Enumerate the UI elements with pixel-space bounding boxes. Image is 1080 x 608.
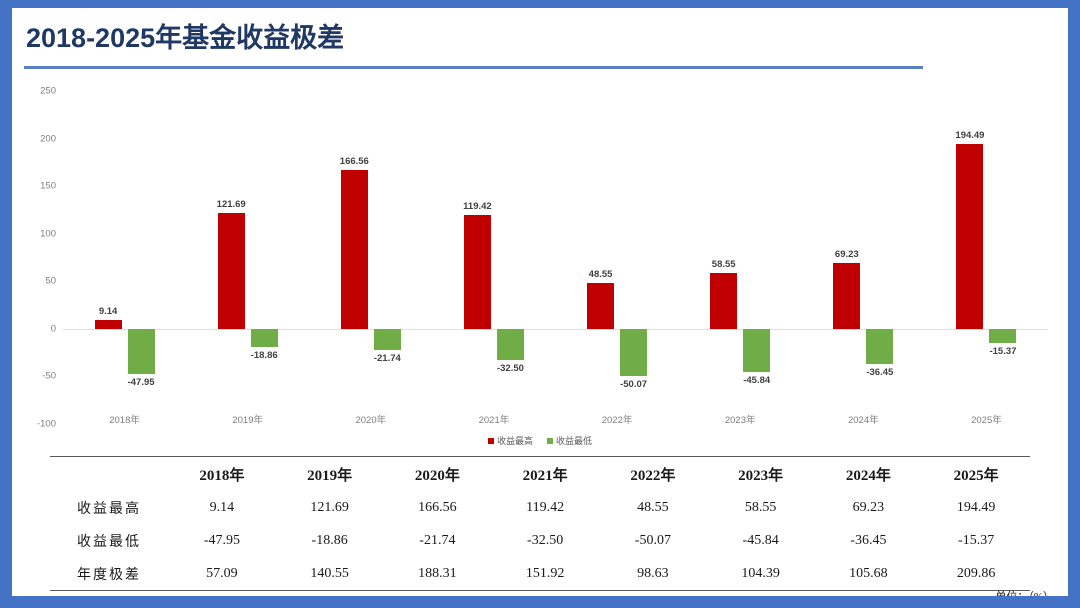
table-corner-cell bbox=[50, 457, 168, 492]
table-column-header: 2022年 bbox=[599, 457, 707, 492]
x-axis-tick: 2018年 bbox=[109, 412, 140, 426]
bar-收益最低-2025年[interactable] bbox=[989, 329, 1016, 344]
table-cell: -18.86 bbox=[276, 524, 384, 557]
bar-value-label: -45.84 bbox=[743, 375, 770, 386]
table-column-header: 2024年 bbox=[815, 457, 923, 492]
bar-收益最高-2022年[interactable] bbox=[587, 283, 614, 329]
bar-收益最低-2018年[interactable] bbox=[128, 329, 155, 375]
table-cell: 98.63 bbox=[599, 557, 707, 591]
table-row-header: 年度极差 bbox=[50, 557, 168, 591]
table-cell: -21.74 bbox=[384, 524, 492, 557]
y-axis-tick: 50 bbox=[12, 276, 56, 287]
x-axis-tick: 2020年 bbox=[355, 412, 386, 426]
table-body: 收益最高9.14121.69166.56119.4248.5558.5569.2… bbox=[50, 491, 1030, 591]
bar-收益最低-2024年[interactable] bbox=[866, 329, 893, 364]
table-column-header: 2021年 bbox=[491, 457, 599, 492]
y-axis-tick: -50 bbox=[12, 371, 56, 382]
x-axis-tick: 2022年 bbox=[602, 412, 633, 426]
chart-legend: 收益最高收益最低 bbox=[12, 434, 1068, 447]
page-title: 2018-2025年基金收益极差 bbox=[26, 16, 344, 55]
bar-chart: 250200150100500-50-100 9.14-47.95121.69-… bbox=[12, 74, 1068, 454]
table-cell: 48.55 bbox=[599, 491, 707, 524]
bar-收益最低-2021年[interactable] bbox=[497, 329, 524, 360]
table-cell: 188.31 bbox=[384, 557, 492, 591]
x-axis-tick: 2021年 bbox=[479, 412, 510, 426]
y-axis-tick: 150 bbox=[12, 181, 56, 192]
title-underline-rule bbox=[24, 66, 923, 69]
bar-value-label: 69.23 bbox=[835, 249, 859, 260]
table-column-header: 2018年 bbox=[168, 457, 276, 492]
bar-value-label: -36.45 bbox=[866, 367, 893, 378]
bar-value-label: 121.69 bbox=[217, 199, 246, 210]
table-cell: 105.68 bbox=[815, 557, 923, 591]
table-header-row: 2018年2019年2020年2021年2022年2023年2024年2025年 bbox=[50, 457, 1030, 492]
bar-value-label: 119.42 bbox=[463, 201, 492, 212]
table-cell: -50.07 bbox=[599, 524, 707, 557]
table-cell: 9.14 bbox=[168, 491, 276, 524]
table-cell: -47.95 bbox=[168, 524, 276, 557]
bar-收益最高-2018年[interactable] bbox=[95, 320, 122, 329]
table-row-header: 收益最高 bbox=[50, 491, 168, 524]
legend-swatch-icon bbox=[547, 438, 553, 444]
bar-value-label: -47.95 bbox=[128, 377, 155, 388]
slide-page: 2018-2025年基金收益极差 250200150100500-50-100 … bbox=[12, 8, 1068, 596]
table-cell: 194.49 bbox=[922, 491, 1030, 524]
bar-value-label: -15.37 bbox=[989, 346, 1016, 357]
data-table-wrapper: 2018年2019年2020年2021年2022年2023年2024年2025年… bbox=[50, 456, 1030, 591]
bar-value-label: 48.55 bbox=[589, 269, 613, 280]
bar-收益最高-2020年[interactable] bbox=[341, 170, 368, 328]
table-column-header: 2023年 bbox=[707, 457, 815, 492]
y-axis-tick: -100 bbox=[12, 419, 56, 430]
table-column-header: 2019年 bbox=[276, 457, 384, 492]
table-cell: 119.42 bbox=[491, 491, 599, 524]
table-cell: 57.09 bbox=[168, 557, 276, 591]
table-row: 年度极差57.09140.55188.31151.9298.63104.3910… bbox=[50, 557, 1030, 591]
bar-value-label: 194.49 bbox=[955, 130, 984, 141]
bar-收益最高-2021年[interactable] bbox=[464, 215, 491, 329]
bar-value-label: -32.50 bbox=[497, 363, 524, 374]
legend-item-收益最高[interactable]: 收益最高 bbox=[488, 434, 533, 447]
data-table: 2018年2019年2020年2021年2022年2023年2024年2025年… bbox=[50, 456, 1030, 591]
y-axis-tick: 200 bbox=[12, 133, 56, 144]
unit-note: 单位：（%） bbox=[995, 588, 1054, 596]
table-column-header: 2025年 bbox=[922, 457, 1030, 492]
table-cell: 58.55 bbox=[707, 491, 815, 524]
table-cell: -45.84 bbox=[707, 524, 815, 557]
table-column-header: 2020年 bbox=[384, 457, 492, 492]
table-cell: 104.39 bbox=[707, 557, 815, 591]
legend-label: 收益最高 bbox=[497, 434, 533, 447]
table-row-header: 收益最低 bbox=[50, 524, 168, 557]
bar-收益最高-2025年[interactable] bbox=[956, 144, 983, 329]
table-cell: 69.23 bbox=[815, 491, 923, 524]
bar-value-label: -18.86 bbox=[251, 350, 278, 361]
x-axis-tick: 2025年 bbox=[971, 412, 1002, 426]
bar-收益最低-2019年[interactable] bbox=[251, 329, 278, 347]
bar-value-label: -50.07 bbox=[620, 379, 647, 390]
bar-收益最低-2020年[interactable] bbox=[374, 329, 401, 350]
bar-value-label: 58.55 bbox=[712, 259, 736, 270]
table-cell: -15.37 bbox=[922, 524, 1030, 557]
legend-label: 收益最低 bbox=[556, 434, 592, 447]
y-axis-tick: 100 bbox=[12, 228, 56, 239]
x-axis-tick: 2023年 bbox=[725, 412, 756, 426]
table-cell: 151.92 bbox=[491, 557, 599, 591]
bar-value-label: -21.74 bbox=[374, 353, 401, 364]
zero-baseline bbox=[63, 329, 1048, 330]
table-row: 收益最高9.14121.69166.56119.4248.5558.5569.2… bbox=[50, 491, 1030, 524]
table-cell: -32.50 bbox=[491, 524, 599, 557]
table-cell: -36.45 bbox=[815, 524, 923, 557]
bar-收益最高-2024年[interactable] bbox=[833, 263, 860, 329]
legend-item-收益最低[interactable]: 收益最低 bbox=[547, 434, 592, 447]
bar-收益最低-2023年[interactable] bbox=[743, 329, 770, 373]
x-axis-tick: 2019年 bbox=[232, 412, 263, 426]
table-row: 收益最低-47.95-18.86-21.74-32.50-50.07-45.84… bbox=[50, 524, 1030, 557]
y-axis-tick: 0 bbox=[12, 323, 56, 334]
bar-value-label: 166.56 bbox=[340, 156, 369, 167]
table-cell: 209.86 bbox=[922, 557, 1030, 591]
table-cell: 140.55 bbox=[276, 557, 384, 591]
table-cell: 166.56 bbox=[384, 491, 492, 524]
table-cell: 121.69 bbox=[276, 491, 384, 524]
x-axis-tick: 2024年 bbox=[848, 412, 879, 426]
bar-value-label: 9.14 bbox=[99, 306, 118, 317]
bar-收益最高-2023年[interactable] bbox=[710, 273, 737, 329]
bar-收益最高-2019年[interactable] bbox=[218, 213, 245, 329]
y-axis-tick: 250 bbox=[12, 86, 56, 97]
legend-swatch-icon bbox=[488, 438, 494, 444]
bar-收益最低-2022年[interactable] bbox=[620, 329, 647, 377]
